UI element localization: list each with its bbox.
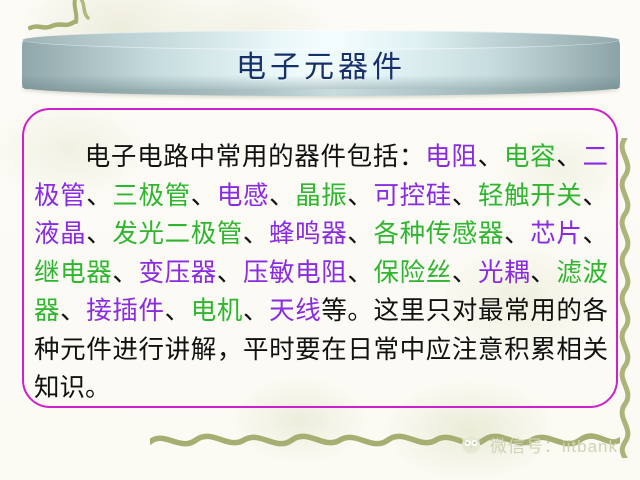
- body-segment: 、: [347, 258, 373, 287]
- body-segment: 晶振: [295, 181, 347, 210]
- body-segment: 、: [243, 219, 269, 248]
- body-segment: 蜂鸣器: [269, 219, 347, 248]
- body-segment: 、: [243, 296, 269, 325]
- body-segment: 压敏电阻: [243, 258, 347, 287]
- body-segment: 、: [504, 219, 530, 248]
- body-segment: 天线: [269, 296, 321, 325]
- body-segment: 三极管: [112, 181, 190, 210]
- body-segment: 、: [478, 142, 504, 171]
- body-segment: 液晶: [34, 219, 86, 248]
- title-banner: 电子元器件: [22, 30, 620, 94]
- slide-canvas: 电子元器件 电子电路中常用的器件包括：电阻、电容、二极管、三极管、电感、晶振、可…: [0, 0, 640, 480]
- body-segment: 、: [86, 219, 112, 248]
- owl-icon: [458, 434, 484, 454]
- body-segment: 、: [269, 181, 295, 210]
- watermark-text: 微信号：iitbank: [490, 432, 618, 457]
- body-segment: 、: [165, 296, 191, 325]
- body-segment: 、: [191, 181, 217, 210]
- body-segment: 电子电路中常用的器件包括：: [84, 142, 425, 171]
- body-segment: 、: [452, 258, 478, 287]
- body-segment: 、: [86, 181, 112, 210]
- body-segment: 电阻: [425, 142, 477, 171]
- body-segment: 、: [556, 142, 582, 171]
- body-segment: 、: [582, 181, 608, 210]
- body-segment: 保险丝: [374, 258, 452, 287]
- body-segment: 可控硅: [374, 181, 452, 210]
- body-segment: 继电器: [34, 258, 112, 287]
- body-segment: 、: [217, 258, 243, 287]
- body-segment: 、: [452, 181, 478, 210]
- body-segment: 各种传感器: [374, 219, 505, 248]
- body-segment: 发光二极管: [112, 219, 243, 248]
- body-segment: 、: [60, 296, 86, 325]
- body-paragraph: 电子电路中常用的器件包括：电阻、电容、二极管、三极管、电感、晶振、可控硅、轻触开…: [34, 138, 608, 408]
- body-segment: 电感: [217, 181, 269, 210]
- body-segment: 轻触开关: [478, 181, 582, 210]
- body-segment: 光耦: [478, 258, 530, 287]
- body-segment: 、: [530, 258, 556, 287]
- page-title: 电子元器件: [22, 42, 620, 86]
- body-segment: 电容: [504, 142, 556, 171]
- body-segment: 、: [347, 219, 373, 248]
- body-segment: 、: [582, 219, 608, 248]
- body-segment: 芯片: [530, 219, 582, 248]
- watermark: 微信号：iitbank: [458, 432, 618, 456]
- body-segment: 接插件: [86, 296, 164, 325]
- body-segment: 电机: [191, 296, 243, 325]
- body-segment: 变压器: [138, 258, 216, 287]
- body-segment: 、: [347, 181, 373, 210]
- body-segment: 、: [112, 258, 138, 287]
